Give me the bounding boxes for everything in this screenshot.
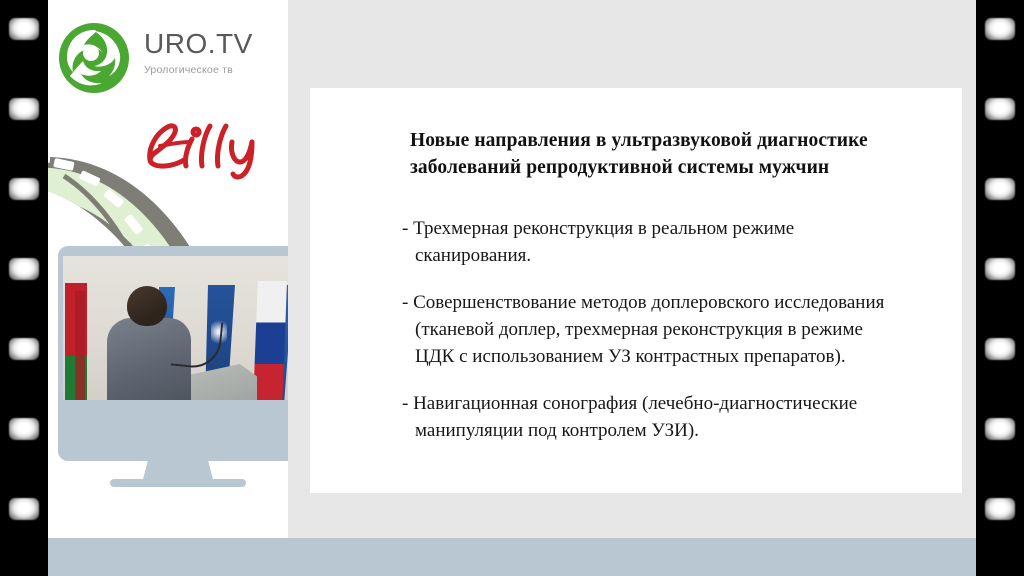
flag-belarus-fold <box>75 291 85 401</box>
sprocket-hole <box>9 258 39 280</box>
branding-panel: URO.TV Урологическое тв <box>48 0 288 538</box>
film-strip-right <box>976 0 1024 576</box>
video-thumbnail <box>63 256 288 409</box>
slide-bullet-list: - Трехмерная реконструкция в реальном ре… <box>402 216 962 445</box>
film-strip-left <box>0 0 48 576</box>
speaker-head <box>127 286 167 326</box>
sprocket-hole <box>985 498 1015 520</box>
video-content-area: Новые направления в ультразвуковой диагн… <box>48 0 976 576</box>
sprocket-hole <box>9 338 39 360</box>
sprocket-hole <box>985 98 1015 120</box>
screenshot-root: Новые направления в ультразвуковой диагн… <box>0 0 1024 576</box>
flag-russia <box>253 281 287 407</box>
logo-title: URO.TV <box>144 30 253 58</box>
slide-bullet-item: - Навигационная сонография (лечебно-диаг… <box>402 391 962 445</box>
sprocket-hole <box>985 178 1015 200</box>
slide-title: Новые направления в ультразвуковой диагн… <box>410 128 940 182</box>
uro-tv-logo-text: URO.TV Урологическое тв <box>144 30 253 76</box>
sprocket-hole <box>9 98 39 120</box>
video-bottom-bar <box>63 400 288 409</box>
monitor-base <box>110 479 246 487</box>
slide-bullet-item: - Трехмерная реконструкция в реальном ре… <box>402 216 962 270</box>
uro-tv-circle-logo-icon <box>58 22 130 94</box>
sprocket-hole <box>9 18 39 40</box>
sprocket-hole <box>985 418 1015 440</box>
video-player[interactable] <box>63 256 288 409</box>
uro-tv-logo: URO.TV Урологическое тв <box>58 22 283 98</box>
sprocket-hole <box>9 418 39 440</box>
sprocket-hole <box>985 258 1015 280</box>
presentation-slide: Новые направления в ультразвуковой диагн… <box>310 88 962 493</box>
sprocket-hole <box>9 498 39 520</box>
sprocket-hole <box>985 338 1015 360</box>
sprocket-hole <box>985 18 1015 40</box>
video-monitor-bezel <box>58 246 288 461</box>
footer-band <box>48 538 976 576</box>
logo-subtitle: Урологическое тв <box>144 65 253 76</box>
sprocket-hole <box>9 178 39 200</box>
slide-bullet-item: - Совершенствование методов доплеровског… <box>402 290 962 371</box>
